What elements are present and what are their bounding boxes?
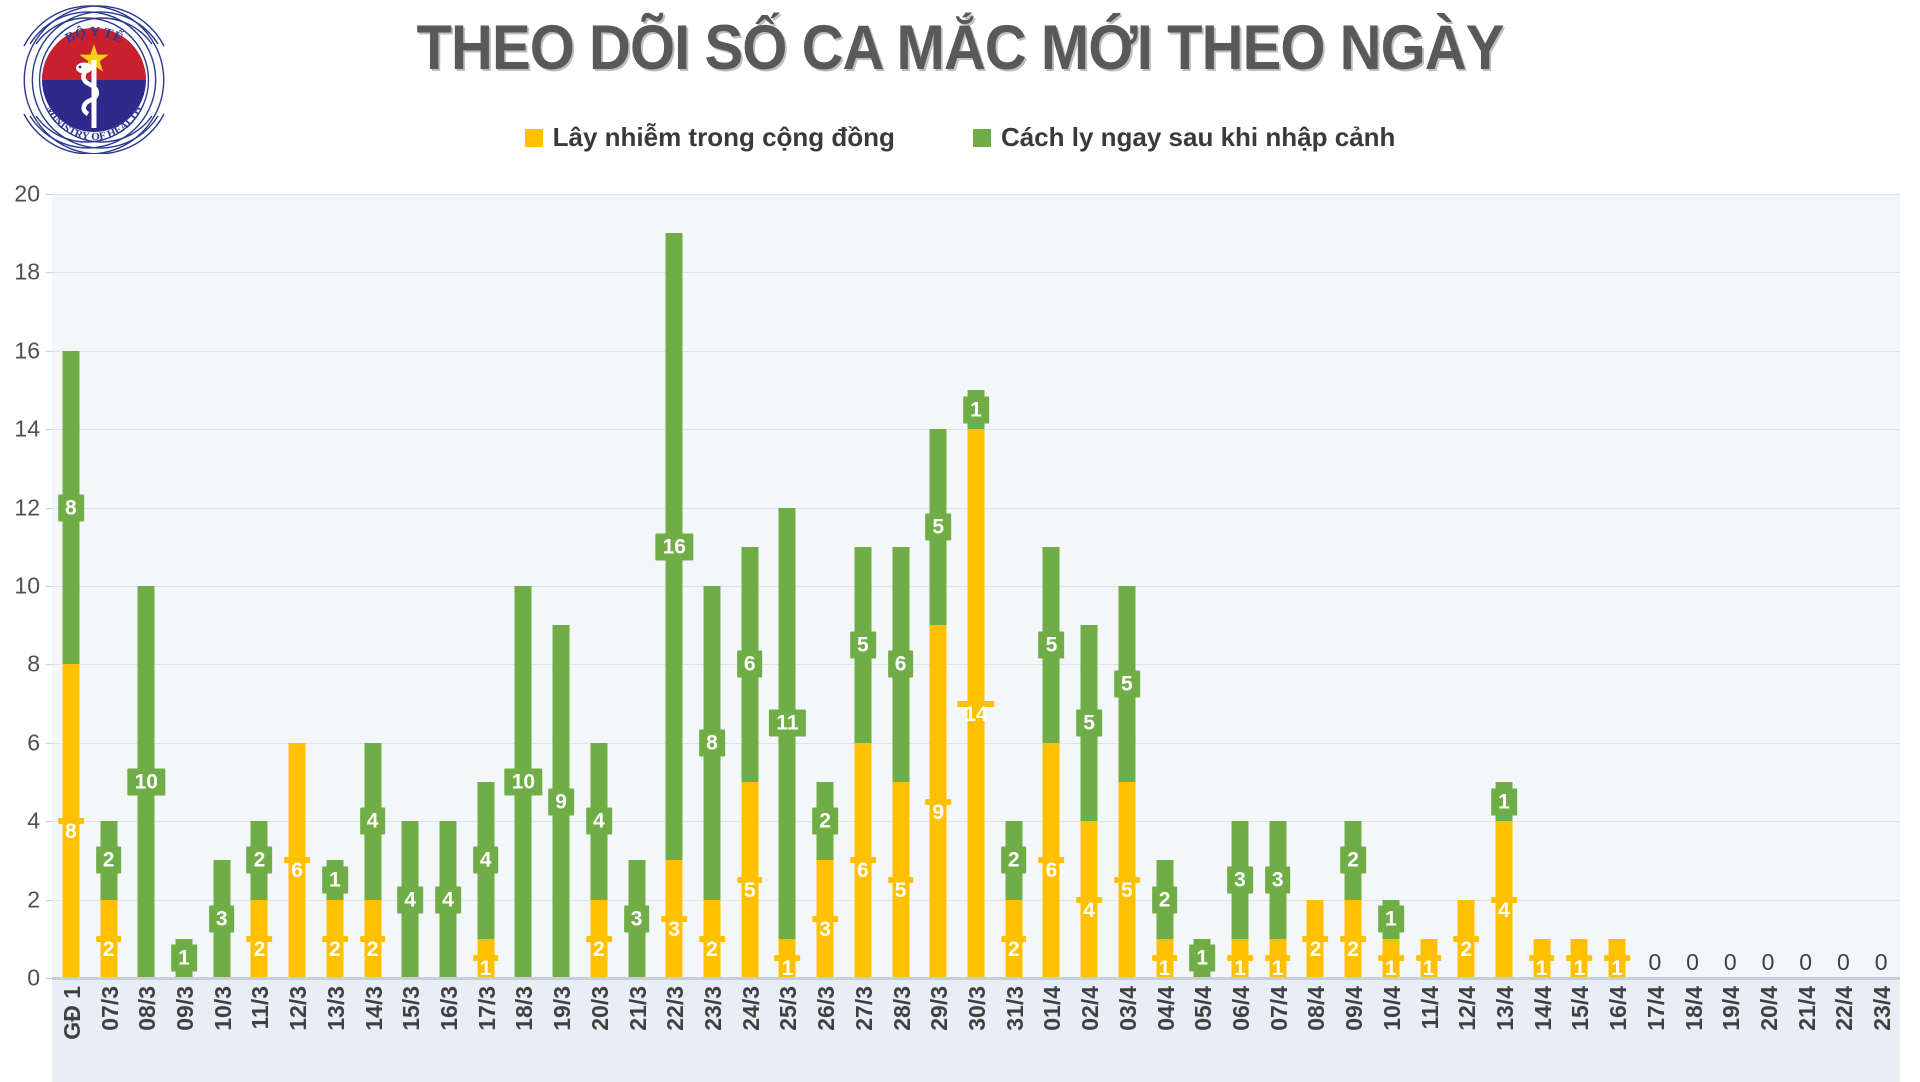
x-axis-label: 09/4 [1341, 986, 1368, 1031]
bar-column[interactable]: 41 [1485, 194, 1523, 978]
bar-value-label-quarantine: 3 [624, 906, 650, 933]
bar-column[interactable]: 3 [618, 194, 656, 978]
plot-area: 8822101322621244414109243316285611132655… [52, 194, 1900, 978]
bar-column[interactable]: 1 [1523, 194, 1561, 978]
bar-column[interactable]: 88 [52, 194, 90, 978]
bar-column[interactable]: 22 [241, 194, 279, 978]
bar-column[interactable]: 0 [1787, 194, 1825, 978]
bar-column[interactable]: 55 [1108, 194, 1146, 978]
x-axis-label: 16/3 [436, 986, 463, 1031]
x-axis-label: 11/3 [247, 986, 274, 1030]
bar-value-label-quarantine: 5 [1039, 631, 1065, 658]
page-title: THEO DÕI SỐ CA MẮC MỚI THEO NGÀY [353, 8, 1567, 88]
bar-value-label-community: 8 [58, 818, 84, 824]
bar-value-label-community: 5 [737, 877, 763, 883]
bar-column[interactable]: 4 [391, 194, 429, 978]
bar-value-label-community: 1 [1227, 955, 1253, 961]
bar-column[interactable]: 0 [1636, 194, 1674, 978]
x-axis-label: 26/3 [813, 986, 840, 1031]
bar-value-label-quarantine: 5 [1114, 671, 1140, 698]
y-axis-label: 0 [27, 965, 40, 992]
bar-value-label-community: 2 [96, 936, 122, 942]
bar-value-label-community: 1 [1567, 955, 1593, 961]
bar-value-label-quarantine: 1 [1491, 788, 1517, 815]
x-axis-label: 14/4 [1530, 986, 1557, 1031]
bar-value-label-community: 2 [1303, 936, 1329, 942]
y-axis-label: 14 [14, 416, 40, 443]
x-axis-label: 03/4 [1115, 986, 1142, 1031]
x-axis-label: 14/3 [361, 986, 388, 1031]
bar-value-label-quarantine: 4 [473, 847, 499, 874]
y-axis-label: 8 [27, 651, 40, 678]
bar-column[interactable]: 141 [957, 194, 995, 978]
bar-column[interactable]: 32 [806, 194, 844, 978]
bar-column[interactable]: 14 [467, 194, 505, 978]
x-axis-label: 23/3 [700, 986, 727, 1031]
bar-column[interactable]: 10 [505, 194, 543, 978]
x-axis-label: 22/3 [662, 986, 689, 1031]
x-axis-label: 07/4 [1266, 986, 1293, 1031]
bar-value-label-quarantine: 4 [397, 886, 423, 913]
x-axis-label: GĐ 1 [59, 986, 86, 1040]
x-axis-label: 01/4 [1039, 986, 1066, 1031]
x-axis-label: 17/3 [474, 986, 501, 1031]
bar-value-label-zero: 0 [1724, 951, 1737, 974]
bar-value-label-community: 2 [1340, 936, 1366, 942]
bar-column[interactable]: 22 [1334, 194, 1372, 978]
legend-swatch-quarantine [973, 129, 991, 147]
legend-label-community: Lây nhiễm trong cộng đồng [553, 122, 895, 153]
bar-value-label-quarantine: 10 [128, 769, 165, 796]
x-axis-label: 10/4 [1379, 986, 1406, 1031]
bar-value-label-quarantine: 2 [247, 847, 273, 874]
bar-column[interactable]: 111 [769, 194, 807, 978]
x-axis-label: 13/3 [323, 986, 350, 1031]
bar-value-label-community: 6 [850, 857, 876, 863]
bar-column[interactable]: 3 [203, 194, 241, 978]
bar-value-label-quarantine: 3 [1227, 867, 1253, 894]
bar-column[interactable]: 28 [693, 194, 731, 978]
bar-value-label-community: 6 [1039, 857, 1065, 863]
bar-value-label-zero: 0 [1762, 951, 1775, 974]
x-axis-label: 24/3 [738, 986, 765, 1031]
bar-column[interactable]: 1 [1410, 194, 1448, 978]
bar-column[interactable]: 6 [278, 194, 316, 978]
bar-value-label-community: 4 [1491, 897, 1517, 903]
x-axis-label: 12/4 [1454, 986, 1481, 1031]
bar-value-label-quarantine: 6 [888, 651, 914, 678]
bar-column[interactable]: 10 [127, 194, 165, 978]
bar-column[interactable]: 56 [882, 194, 920, 978]
y-axis-label: 16 [14, 337, 40, 364]
bar-value-label-community: 5 [888, 877, 914, 883]
bar-value-label-community: 2 [586, 936, 612, 942]
bar-column[interactable]: 11 [1372, 194, 1410, 978]
bar-column[interactable]: 316 [655, 194, 693, 978]
legend-item-community[interactable]: Lây nhiễm trong cộng đồng [525, 122, 895, 153]
legend-swatch-community [525, 129, 543, 147]
bar-column[interactable]: 65 [844, 194, 882, 978]
bar-value-label-community: 5 [1114, 877, 1140, 883]
bar-value-label-community: 2 [322, 936, 348, 942]
bar-value-label-quarantine: 8 [699, 729, 725, 756]
bar-value-label-community: 9 [925, 799, 951, 805]
bar-column[interactable]: 21 [316, 194, 354, 978]
bar-value-label-zero: 0 [1799, 951, 1812, 974]
bar-value-label-community: 2 [247, 936, 273, 942]
bar-value-label-zero: 0 [1648, 951, 1661, 974]
bar-column[interactable]: 95 [919, 194, 957, 978]
y-axis-label: 18 [14, 259, 40, 286]
bar-value-label-zero: 0 [1837, 951, 1850, 974]
bar-value-label-community: 1 [1378, 955, 1404, 961]
bar-value-label-community: 1 [1416, 955, 1442, 961]
bar-value-label-quarantine: 6 [737, 651, 763, 678]
bar-value-label-quarantine: 4 [586, 808, 612, 835]
x-axis-label: 25/3 [775, 986, 802, 1031]
bar-value-label-community: 1 [1529, 955, 1555, 961]
bar-column[interactable]: 1 [1561, 194, 1599, 978]
x-axis-label: 06/4 [1228, 986, 1255, 1031]
bar-value-label-quarantine: 2 [1001, 847, 1027, 874]
x-axis-label: 08/4 [1303, 986, 1330, 1031]
bar-column[interactable]: 1 [165, 194, 203, 978]
legend-label-quarantine: Cách ly ngay sau khi nhập cảnh [1001, 122, 1395, 153]
x-axis-label: 15/4 [1567, 986, 1594, 1031]
x-axis-label: 23/4 [1869, 986, 1896, 1031]
x-axis-label: 30/3 [964, 986, 991, 1031]
bar-value-label-quarantine: 5 [1076, 710, 1102, 737]
bar-column[interactable]: 65 [1033, 194, 1071, 978]
bar-value-label-quarantine: 2 [96, 847, 122, 874]
x-axis-label: 12/3 [285, 986, 312, 1031]
bar-value-label-quarantine: 1 [1378, 906, 1404, 933]
bar-value-label-quarantine: 2 [812, 808, 838, 835]
bar-value-label-quarantine: 2 [1152, 886, 1178, 913]
bar-value-label-community: 2 [1001, 936, 1027, 942]
bar-series-container: 8822101322621244414109243316285611132655… [52, 194, 1900, 978]
ministry-of-health-logo: BỘ Y TẾ MINISTRY OF HEALTH [14, 4, 174, 154]
bar-value-label-community: 1 [1265, 955, 1291, 961]
bar-value-label-community: 1 [775, 955, 801, 961]
x-axis-label: 18/3 [511, 986, 538, 1031]
bar-column[interactable]: 2 [1297, 194, 1335, 978]
bar-value-label-quarantine: 1 [963, 396, 989, 423]
bar-value-label-quarantine: 3 [209, 906, 235, 933]
y-axis-label: 20 [14, 181, 40, 208]
bar-column[interactable]: 1 [1183, 194, 1221, 978]
bar-column[interactable]: 0 [1674, 194, 1712, 978]
bar-column[interactable]: 12 [1146, 194, 1184, 978]
x-axis-label: 19/3 [549, 986, 576, 1031]
x-axis-label: 13/4 [1492, 986, 1519, 1031]
bar-column[interactable]: 0 [1711, 194, 1749, 978]
x-axis-label: 16/4 [1605, 986, 1632, 1031]
bar-value-label-quarantine: 4 [435, 886, 461, 913]
bar-column[interactable]: 13 [1221, 194, 1259, 978]
bar-column[interactable]: 24 [354, 194, 392, 978]
y-axis-label: 10 [14, 573, 40, 600]
x-axis-label: 21/3 [625, 986, 652, 1031]
bar-value-label-quarantine: 5 [850, 631, 876, 658]
x-axis-label: 05/4 [1190, 986, 1217, 1031]
legend-item-quarantine[interactable]: Cách ly ngay sau khi nhập cảnh [973, 122, 1395, 153]
bar-column[interactable]: 1 [1598, 194, 1636, 978]
bar-value-label-community: 6 [284, 857, 310, 863]
bar-value-label-quarantine: 10 [505, 769, 542, 796]
bar-column[interactable]: 24 [580, 194, 618, 978]
x-axis-label: 21/4 [1794, 986, 1821, 1031]
bar-column[interactable]: 56 [731, 194, 769, 978]
bar-value-label-community: 1 [1604, 955, 1630, 961]
x-axis-label: 02/4 [1077, 986, 1104, 1031]
bar-column[interactable]: 0 [1749, 194, 1787, 978]
bar-column[interactable]: 22 [90, 194, 128, 978]
x-axis: GĐ 107/308/309/310/311/312/313/314/315/3… [52, 978, 1900, 1082]
bar-column[interactable]: 22 [995, 194, 1033, 978]
x-axis-label: 11/4 [1417, 986, 1444, 1030]
bar-value-label-quarantine: 1 [1189, 945, 1215, 972]
bar-value-label-community: 1 [473, 955, 499, 961]
bar-value-label-community: 2 [1453, 936, 1479, 942]
bar-column[interactable]: 9 [542, 194, 580, 978]
x-axis-label: 29/3 [926, 986, 953, 1031]
bar-value-label-community: 3 [661, 916, 687, 922]
x-axis-label: 09/3 [172, 986, 199, 1031]
bar-value-label-quarantine: 4 [360, 808, 386, 835]
bar-value-label-quarantine: 8 [58, 494, 84, 521]
x-axis-label: 08/3 [134, 986, 161, 1031]
bar-value-label-community: 2 [699, 936, 725, 942]
x-axis-label: 27/3 [851, 986, 878, 1031]
chart-legend: Lây nhiễm trong cộng đồng Cách ly ngay s… [300, 122, 1620, 153]
bar-value-label-quarantine: 16 [656, 533, 693, 560]
y-axis: 02468101214161820 [0, 194, 46, 978]
bar-column[interactable]: 13 [1259, 194, 1297, 978]
y-axis-label: 2 [27, 886, 40, 913]
x-axis-label: 20/4 [1756, 986, 1783, 1031]
bar-column[interactable]: 2 [1447, 194, 1485, 978]
bar-value-label-community: 1 [1152, 955, 1178, 961]
bar-value-label-quarantine: 5 [925, 514, 951, 541]
bar-value-label-community: 3 [812, 916, 838, 922]
x-axis-label: 31/3 [1002, 986, 1029, 1031]
x-axis-label: 04/4 [1153, 986, 1180, 1031]
x-axis-label: 28/3 [889, 986, 916, 1031]
x-axis-label: 22/4 [1831, 986, 1858, 1031]
bar-value-label-community: 4 [1076, 897, 1102, 903]
x-axis-label: 10/3 [210, 986, 237, 1031]
bar-column[interactable]: 4 [429, 194, 467, 978]
x-axis-label: 18/4 [1681, 986, 1708, 1031]
bar-value-label-quarantine: 9 [548, 788, 574, 815]
bar-value-label-community: 14 [957, 701, 994, 707]
x-axis-label: 15/3 [398, 986, 425, 1031]
bar-value-label-community: 2 [360, 936, 386, 942]
bar-value-label-quarantine: 1 [171, 945, 197, 972]
y-axis-label: 12 [14, 494, 40, 521]
bar-value-label-quarantine: 3 [1265, 867, 1291, 894]
bar-value-label-quarantine: 2 [1340, 847, 1366, 874]
bar-value-label-zero: 0 [1875, 951, 1888, 974]
bar-column[interactable]: 0 [1825, 194, 1863, 978]
bar-value-label-zero: 0 [1686, 951, 1699, 974]
y-axis-label: 6 [27, 729, 40, 756]
x-axis-label: 20/3 [587, 986, 614, 1031]
x-axis-label: 19/4 [1718, 986, 1745, 1031]
bar-column[interactable]: 45 [1070, 194, 1108, 978]
y-axis-label: 4 [27, 808, 40, 835]
bar-value-label-quarantine: 11 [769, 710, 805, 737]
x-axis-label: 07/3 [97, 986, 124, 1031]
x-axis-label: 17/4 [1643, 986, 1670, 1031]
bar-value-label-quarantine: 1 [322, 867, 348, 894]
bar-column[interactable]: 0 [1862, 194, 1900, 978]
